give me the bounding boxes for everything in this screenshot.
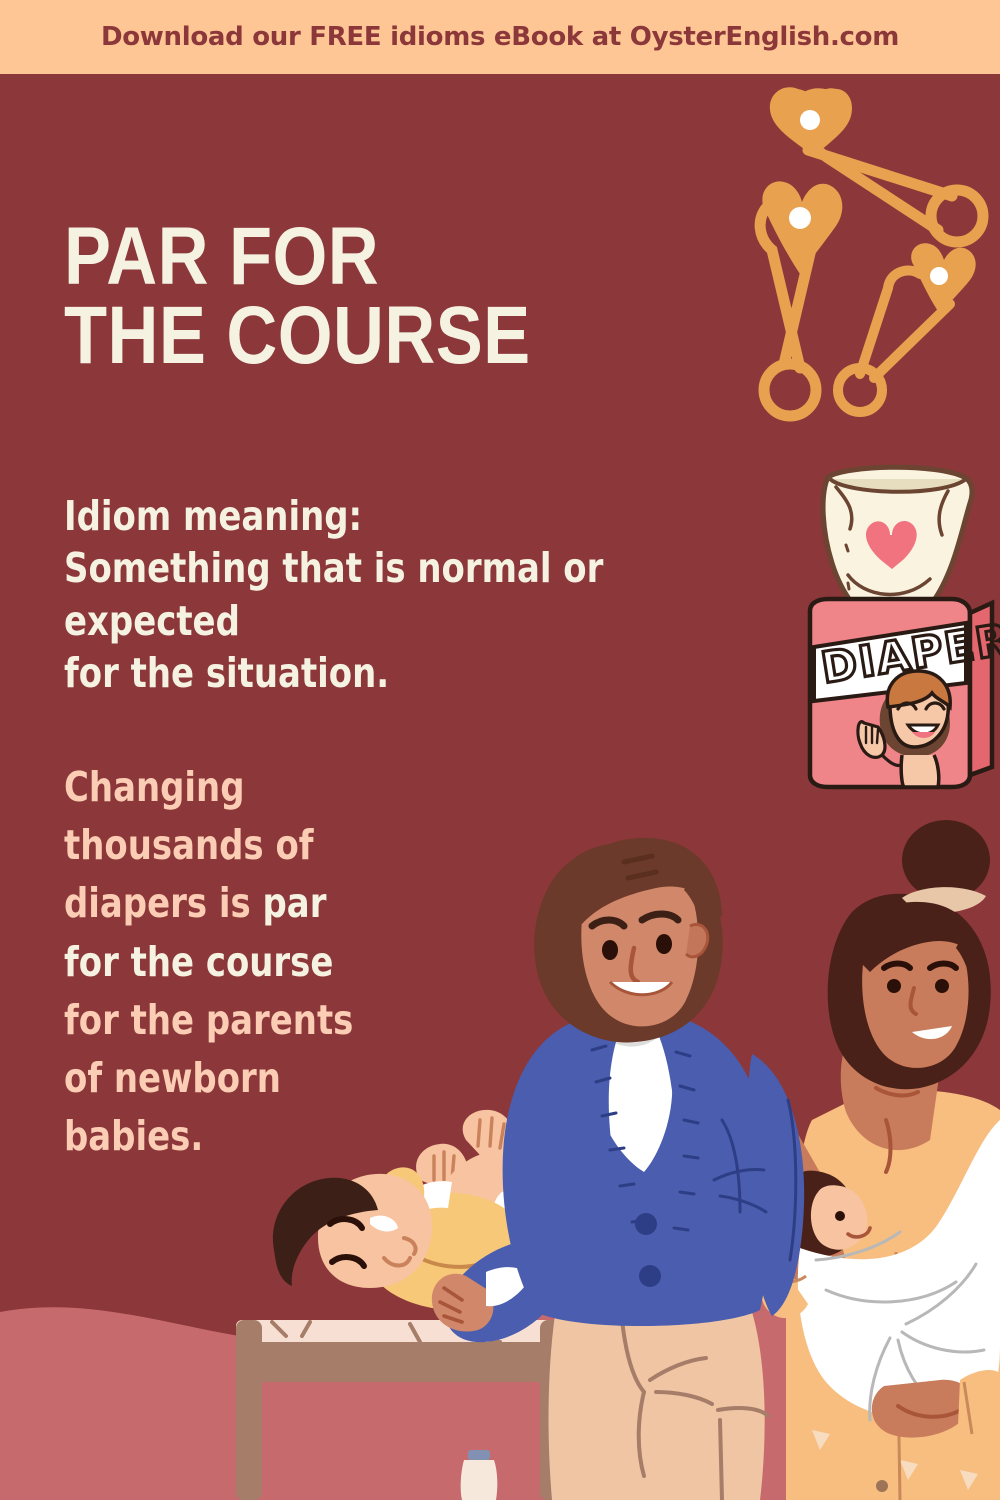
- idiom-meaning: Idiom meaning: Something that is normal …: [64, 490, 763, 700]
- idiom-poster: Download our FREE idioms eBook at Oyster…: [0, 0, 1000, 1500]
- diaper-box-illustration: DIAPER: [786, 455, 1000, 785]
- promo-banner-text: Download our FREE idioms eBook at Oyster…: [101, 22, 899, 52]
- idiom-example: Changing thousands of diapers is par for…: [64, 758, 381, 1166]
- diaper-box: DIAPER: [810, 599, 1000, 787]
- example-part-2: for the parents of newborn babies.: [64, 996, 353, 1160]
- page-title: PAR FOR THE COURSE: [64, 218, 683, 375]
- safety-pin-3: [838, 243, 976, 412]
- text-column: PAR FOR THE COURSE Idiom meaning: Someth…: [64, 218, 784, 375]
- changing-table: [236, 1320, 566, 1500]
- promo-banner[interactable]: Download our FREE idioms eBook at Oyster…: [0, 0, 1000, 74]
